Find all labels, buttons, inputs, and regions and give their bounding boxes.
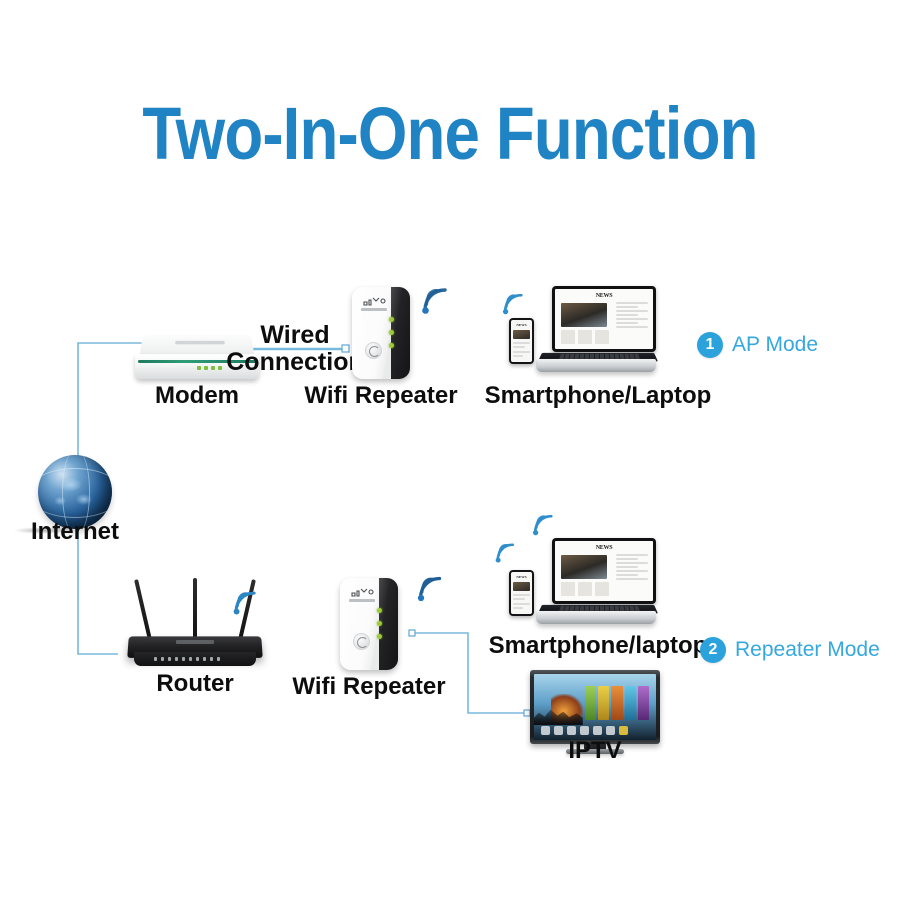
router-antenna-center [193,578,197,640]
wifi-signal-icon [528,509,560,541]
laptop-deck [536,611,656,624]
wifi-signal-icon [416,281,456,321]
phone-hero-image [513,330,530,339]
wired-label-line1: Wired [239,322,351,349]
repeater-led-stack [377,608,382,639]
router-antenna-left [134,579,152,640]
mode-repeater: 2 Repeater Mode [700,637,880,663]
modem-label: Modem [135,382,259,410]
repeater-brand-sub [361,308,387,311]
phone-hero-image [513,582,530,591]
news-thumbnails [561,582,609,596]
news-sidebar [616,554,648,582]
phone-news-headline: NEWS [516,323,526,327]
tv-app-row[interactable] [541,726,648,737]
mode-badge-number: 2 [700,637,726,663]
wifi-repeater-mode [340,578,398,670]
link-internet-router [78,528,118,654]
repeater-power-button[interactable] [365,342,382,359]
laptop-screen: NEWS [552,286,656,352]
repeater-ap-label: Wifi Repeater [288,382,474,410]
internet-label: Internet [16,518,134,546]
infographic-canvas: Two-In-One Function Modem Wired Connecti… [0,0,900,900]
repeater-power-button[interactable] [353,633,370,650]
connector-lines [0,0,900,900]
wired-label-line2: Connection [221,349,369,376]
laptop-screen: NEWS [552,538,656,604]
laptop-deck [536,359,656,372]
repeater-led-stack [389,317,394,348]
wifi-signal-icon [491,538,521,568]
mode-ap: 1 AP Mode [697,332,818,358]
news-hero-image [561,555,607,579]
repeater-mode-label: Wifi Repeater [276,673,462,701]
modem-brand-mark [175,341,225,345]
mode-ap-label: AP Mode [732,333,818,357]
devices-ap-label: Smartphone/Laptop [480,382,716,410]
mode-repeater-label: Repeater Mode [735,638,880,662]
tv-bezel [530,670,660,744]
news-headline: NEWS [596,545,612,551]
smartphone-ap: NEWS [509,318,534,364]
devices-repeater-label: Smartphone/laptop [480,632,716,660]
laptop-webpage: NEWS [555,289,653,349]
laptop-webpage: NEWS [555,541,653,601]
phone-webpage: NEWS [511,320,532,362]
link-endpoint-repeater [409,630,415,636]
laptop-repeater: NEWS [536,538,656,630]
iptv-label: IPTV [530,737,660,765]
laptop-ap: NEWS [536,286,656,378]
news-hero-image [561,303,607,327]
news-headline: NEWS [596,293,612,299]
wifi-signal-icon [498,288,530,320]
wifi-signal-icon [228,585,264,621]
router-label: Router [120,670,270,698]
modem-led-row [197,366,222,370]
phone-webpage: NEWS [511,572,532,614]
news-thumbnails [561,330,609,344]
wifi-signal-icon [412,570,450,608]
news-sidebar [616,302,648,330]
repeater-brand-icon [349,587,377,599]
router-brand-mark [176,640,214,644]
router-led-row [154,657,220,661]
mode-badge-number: 1 [697,332,723,358]
smartphone-repeater: NEWS [509,570,534,616]
repeater-brand-sub [349,599,375,602]
phone-news-headline: NEWS [516,575,526,579]
repeater-brand-icon [361,296,389,308]
tv-screen [534,674,656,740]
tv-color-panels [585,686,648,720]
wifi-repeater-ap [352,287,410,379]
